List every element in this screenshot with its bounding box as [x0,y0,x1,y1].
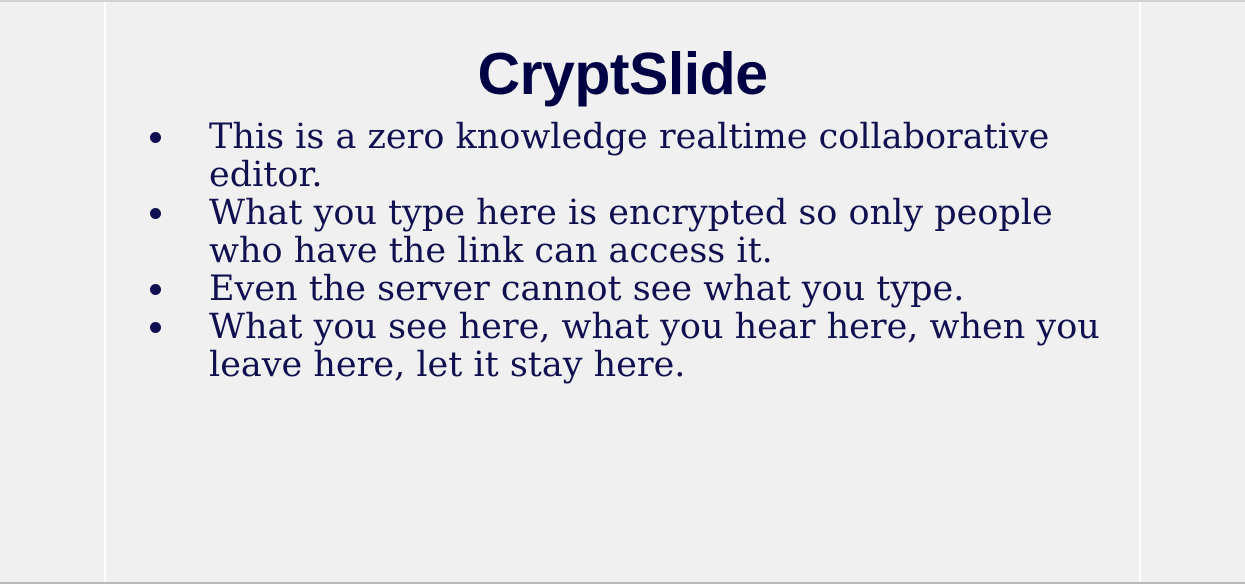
bullet-dot-icon [150,208,161,219]
bullet-item-text: This is a zero knowledge realtime collab… [209,118,1120,194]
bullet-dot-icon [150,284,161,295]
bullet-item-text: What you type here is encrypted so only … [209,194,1120,270]
list-item[interactable]: What you type here is encrypted so only … [138,194,1120,270]
slide-stage-right-divider [1139,2,1141,582]
slide-stage[interactable]: CryptSlide This is a zero knowledge real… [106,2,1139,582]
list-item[interactable]: Even the server cannot see what you type… [138,270,1120,308]
list-item[interactable]: This is a zero knowledge realtime collab… [138,118,1120,194]
bullet-dot-icon [150,322,161,333]
list-item[interactable]: What you see here, what you hear here, w… [138,308,1120,384]
slide-title[interactable]: CryptSlide [106,40,1139,108]
bullet-dot-icon [150,132,161,143]
bullet-item-text: What you see here, what you hear here, w… [209,308,1120,384]
slide-body[interactable]: This is a zero knowledge realtime collab… [138,118,1120,384]
slide-editor-canvas: CryptSlide This is a zero knowledge real… [0,0,1245,584]
bullet-item-text: Even the server cannot see what you type… [209,270,1120,308]
bullet-list: This is a zero knowledge realtime collab… [138,118,1120,384]
